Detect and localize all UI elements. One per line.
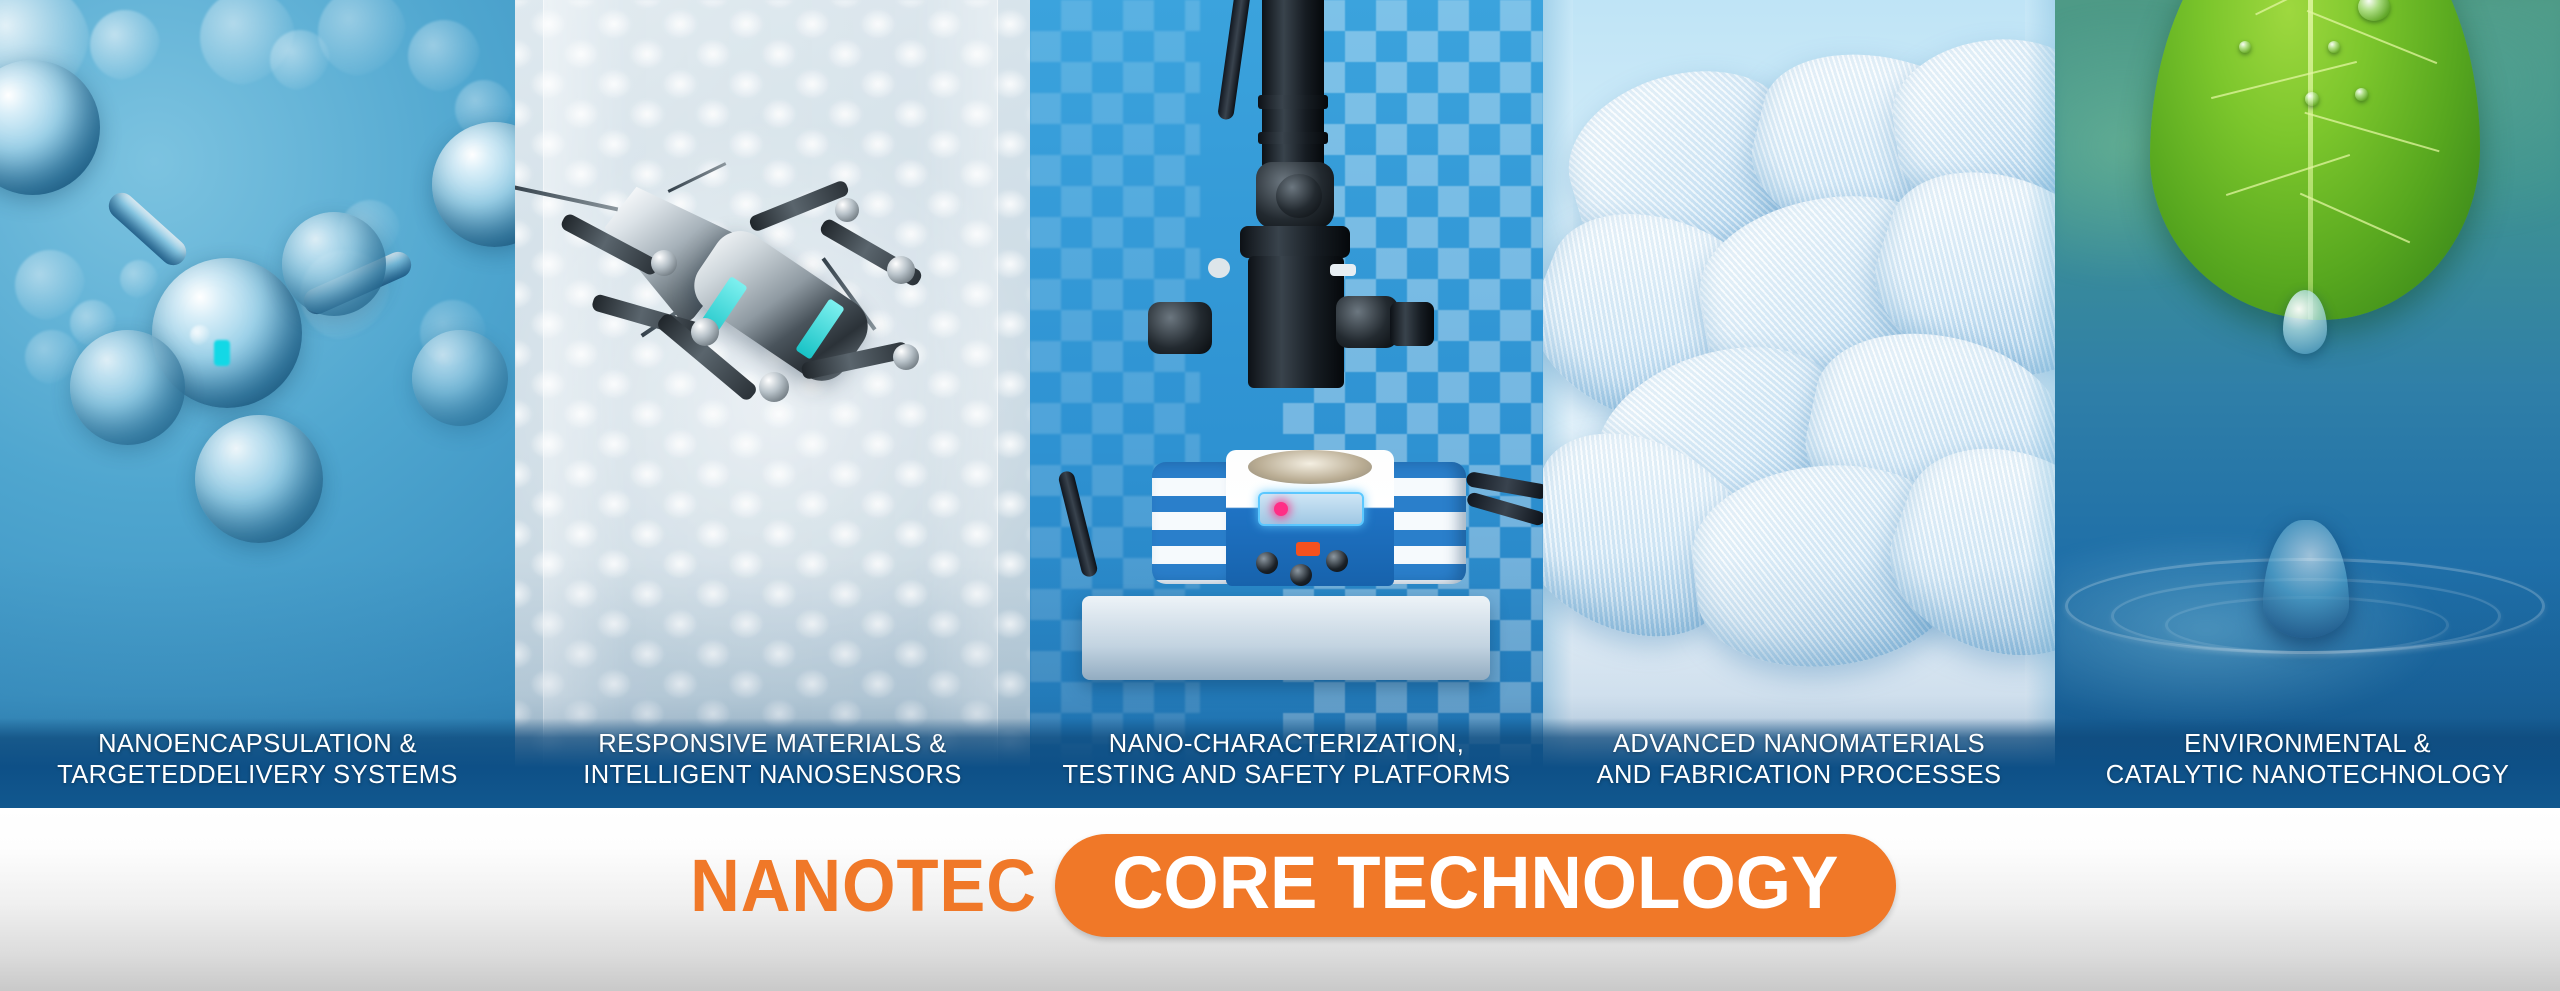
- green-leaf: [2150, 0, 2480, 320]
- panel-edge-right: [2025, 0, 2055, 808]
- panel-label-line1: ADVANCED NANOMATERIALS: [1613, 730, 1985, 759]
- panel-nanoencapsulation[interactable]: NANOENCAPSULATION & TARGETEDDELIVERY SYS…: [0, 0, 515, 808]
- leaf-vein: [2304, 112, 2439, 153]
- nanobot-joint: [759, 372, 789, 402]
- instrument-knob[interactable]: [1290, 564, 1312, 586]
- nanobot-joint: [835, 198, 859, 222]
- dew-drop: [2355, 88, 2368, 101]
- panel-label-line2: CATALYTIC NANOTECHNOLOGY: [2106, 761, 2509, 790]
- leaf-vein: [2225, 154, 2349, 196]
- core-technology-label: CORE TECHNOLOGY: [1112, 840, 1838, 925]
- microscope-ring: [1258, 132, 1328, 144]
- microscope-white-tab: [1330, 264, 1356, 276]
- dew-drop: [2239, 41, 2251, 53]
- molecule-sphere: [0, 60, 100, 195]
- panel-label-nanoencapsulation: NANOENCAPSULATION & TARGETEDDELIVERY SYS…: [0, 718, 515, 808]
- glass-pane-overlay: [543, 0, 998, 808]
- nanobot-joint: [691, 318, 719, 346]
- panel-label-nano-characterization: NANO-CHARACTERIZATION, TESTING AND SAFET…: [1030, 718, 1543, 808]
- cyan-highlight: [214, 340, 230, 366]
- panel-advanced-nanomaterials[interactable]: ADVANCED NANOMATERIALS AND FABRICATION P…: [1543, 0, 2055, 808]
- panel-label-line2: TESTING AND SAFETY PLATFORMS: [1062, 761, 1510, 790]
- panel-responsive-materials[interactable]: RESPONSIVE MATERIALS & INTELLIGENT NANOS…: [515, 0, 1030, 808]
- instrument-knob[interactable]: [1326, 550, 1348, 572]
- panel-nano-characterization[interactable]: NANO-CHARACTERIZATION, TESTING AND SAFET…: [1030, 0, 1543, 808]
- microscope-eyepiece: [1390, 302, 1434, 346]
- diamond-texture-left: [1030, 0, 1200, 808]
- molecule-sphere: [412, 330, 508, 426]
- technology-panel-strip: NANOENCAPSULATION & TARGETEDDELIVERY SYS…: [0, 0, 2560, 808]
- leaf-vein: [2211, 61, 2357, 99]
- instrument-base: [1082, 596, 1490, 680]
- panel-label-line2: TARGETEDDELIVERY SYSTEMS: [57, 761, 458, 790]
- microscope-turret: [1248, 256, 1344, 388]
- instrument-cable: [1217, 0, 1251, 120]
- instrument-knob[interactable]: [1256, 552, 1278, 574]
- dew-drop: [2358, 0, 2390, 21]
- nanobot-joint: [651, 250, 677, 276]
- nanobot-joint: [893, 344, 919, 370]
- panel-label-responsive-materials: RESPONSIVE MATERIALS & INTELLIGENT NANOS…: [515, 718, 1030, 808]
- panel-environmental-catalytic[interactable]: ENVIRONMENTAL & CATALYTIC NANOTECHNOLOGY: [2055, 0, 2560, 808]
- molecule-sphere: [195, 415, 323, 543]
- microscope-collar: [1240, 226, 1350, 258]
- microscope-lens: [1276, 174, 1322, 218]
- core-technology-banner: NANOENCAPSULATION & TARGETEDDELIVERY SYS…: [0, 0, 2560, 991]
- panel-label-advanced-nanomaterials: ADVANCED NANOMATERIALS AND FABRICATION P…: [1543, 718, 2055, 808]
- bokeh-circle: [90, 10, 160, 80]
- microscope-column: [1262, 0, 1324, 170]
- brand-lockup: NANOTEC CORE TECHNOLOGY: [664, 834, 1895, 937]
- bokeh-circle: [120, 260, 158, 298]
- nanobot-joint: [887, 256, 915, 284]
- dew-drop: [2328, 41, 2340, 53]
- leaf-midrib: [2308, 0, 2313, 320]
- panel-label-line1: NANO-CHARACTERIZATION,: [1109, 730, 1464, 759]
- panel-label-line2: INTELLIGENT NANOSENSORS: [583, 761, 962, 790]
- microscope-knob-left: [1148, 302, 1212, 354]
- brand-name-nanotec: NANOTEC: [690, 843, 1037, 928]
- brand-banner: NANOTEC CORE TECHNOLOGY: [0, 808, 2560, 991]
- molecule-sphere: [432, 122, 515, 247]
- panel-label-line1: NANOENCAPSULATION &: [98, 730, 417, 759]
- molecule-sphere: [70, 330, 185, 445]
- molecule-sphere: [282, 212, 386, 316]
- core-technology-pill: CORE TECHNOLOGY: [1055, 834, 1895, 937]
- dew-drop: [2305, 92, 2319, 106]
- panel-label-environmental-catalytic: ENVIRONMENTAL & CATALYTIC NANOTECHNOLOGY: [2055, 718, 2560, 808]
- microscope-white-knob: [1208, 258, 1230, 278]
- leaf-vein: [2300, 192, 2410, 243]
- instrument-orange-button[interactable]: [1296, 542, 1320, 556]
- status-led-pink: [1274, 502, 1288, 516]
- panel-label-line1: ENVIRONMENTAL &: [2184, 730, 2431, 759]
- molecule-bond: [104, 188, 192, 271]
- instrument-aperture: [1248, 450, 1372, 484]
- bokeh-circle: [408, 20, 480, 92]
- microscope-ring: [1258, 95, 1328, 109]
- panel-edge-left: [1543, 0, 1573, 808]
- panel-label-line2: AND FABRICATION PROCESSES: [1597, 761, 2002, 790]
- panel-label-line1: RESPONSIVE MATERIALS &: [598, 730, 946, 759]
- bokeh-circle: [190, 325, 210, 345]
- bokeh-circle: [318, 0, 406, 76]
- microscope-knob-right: [1336, 296, 1398, 348]
